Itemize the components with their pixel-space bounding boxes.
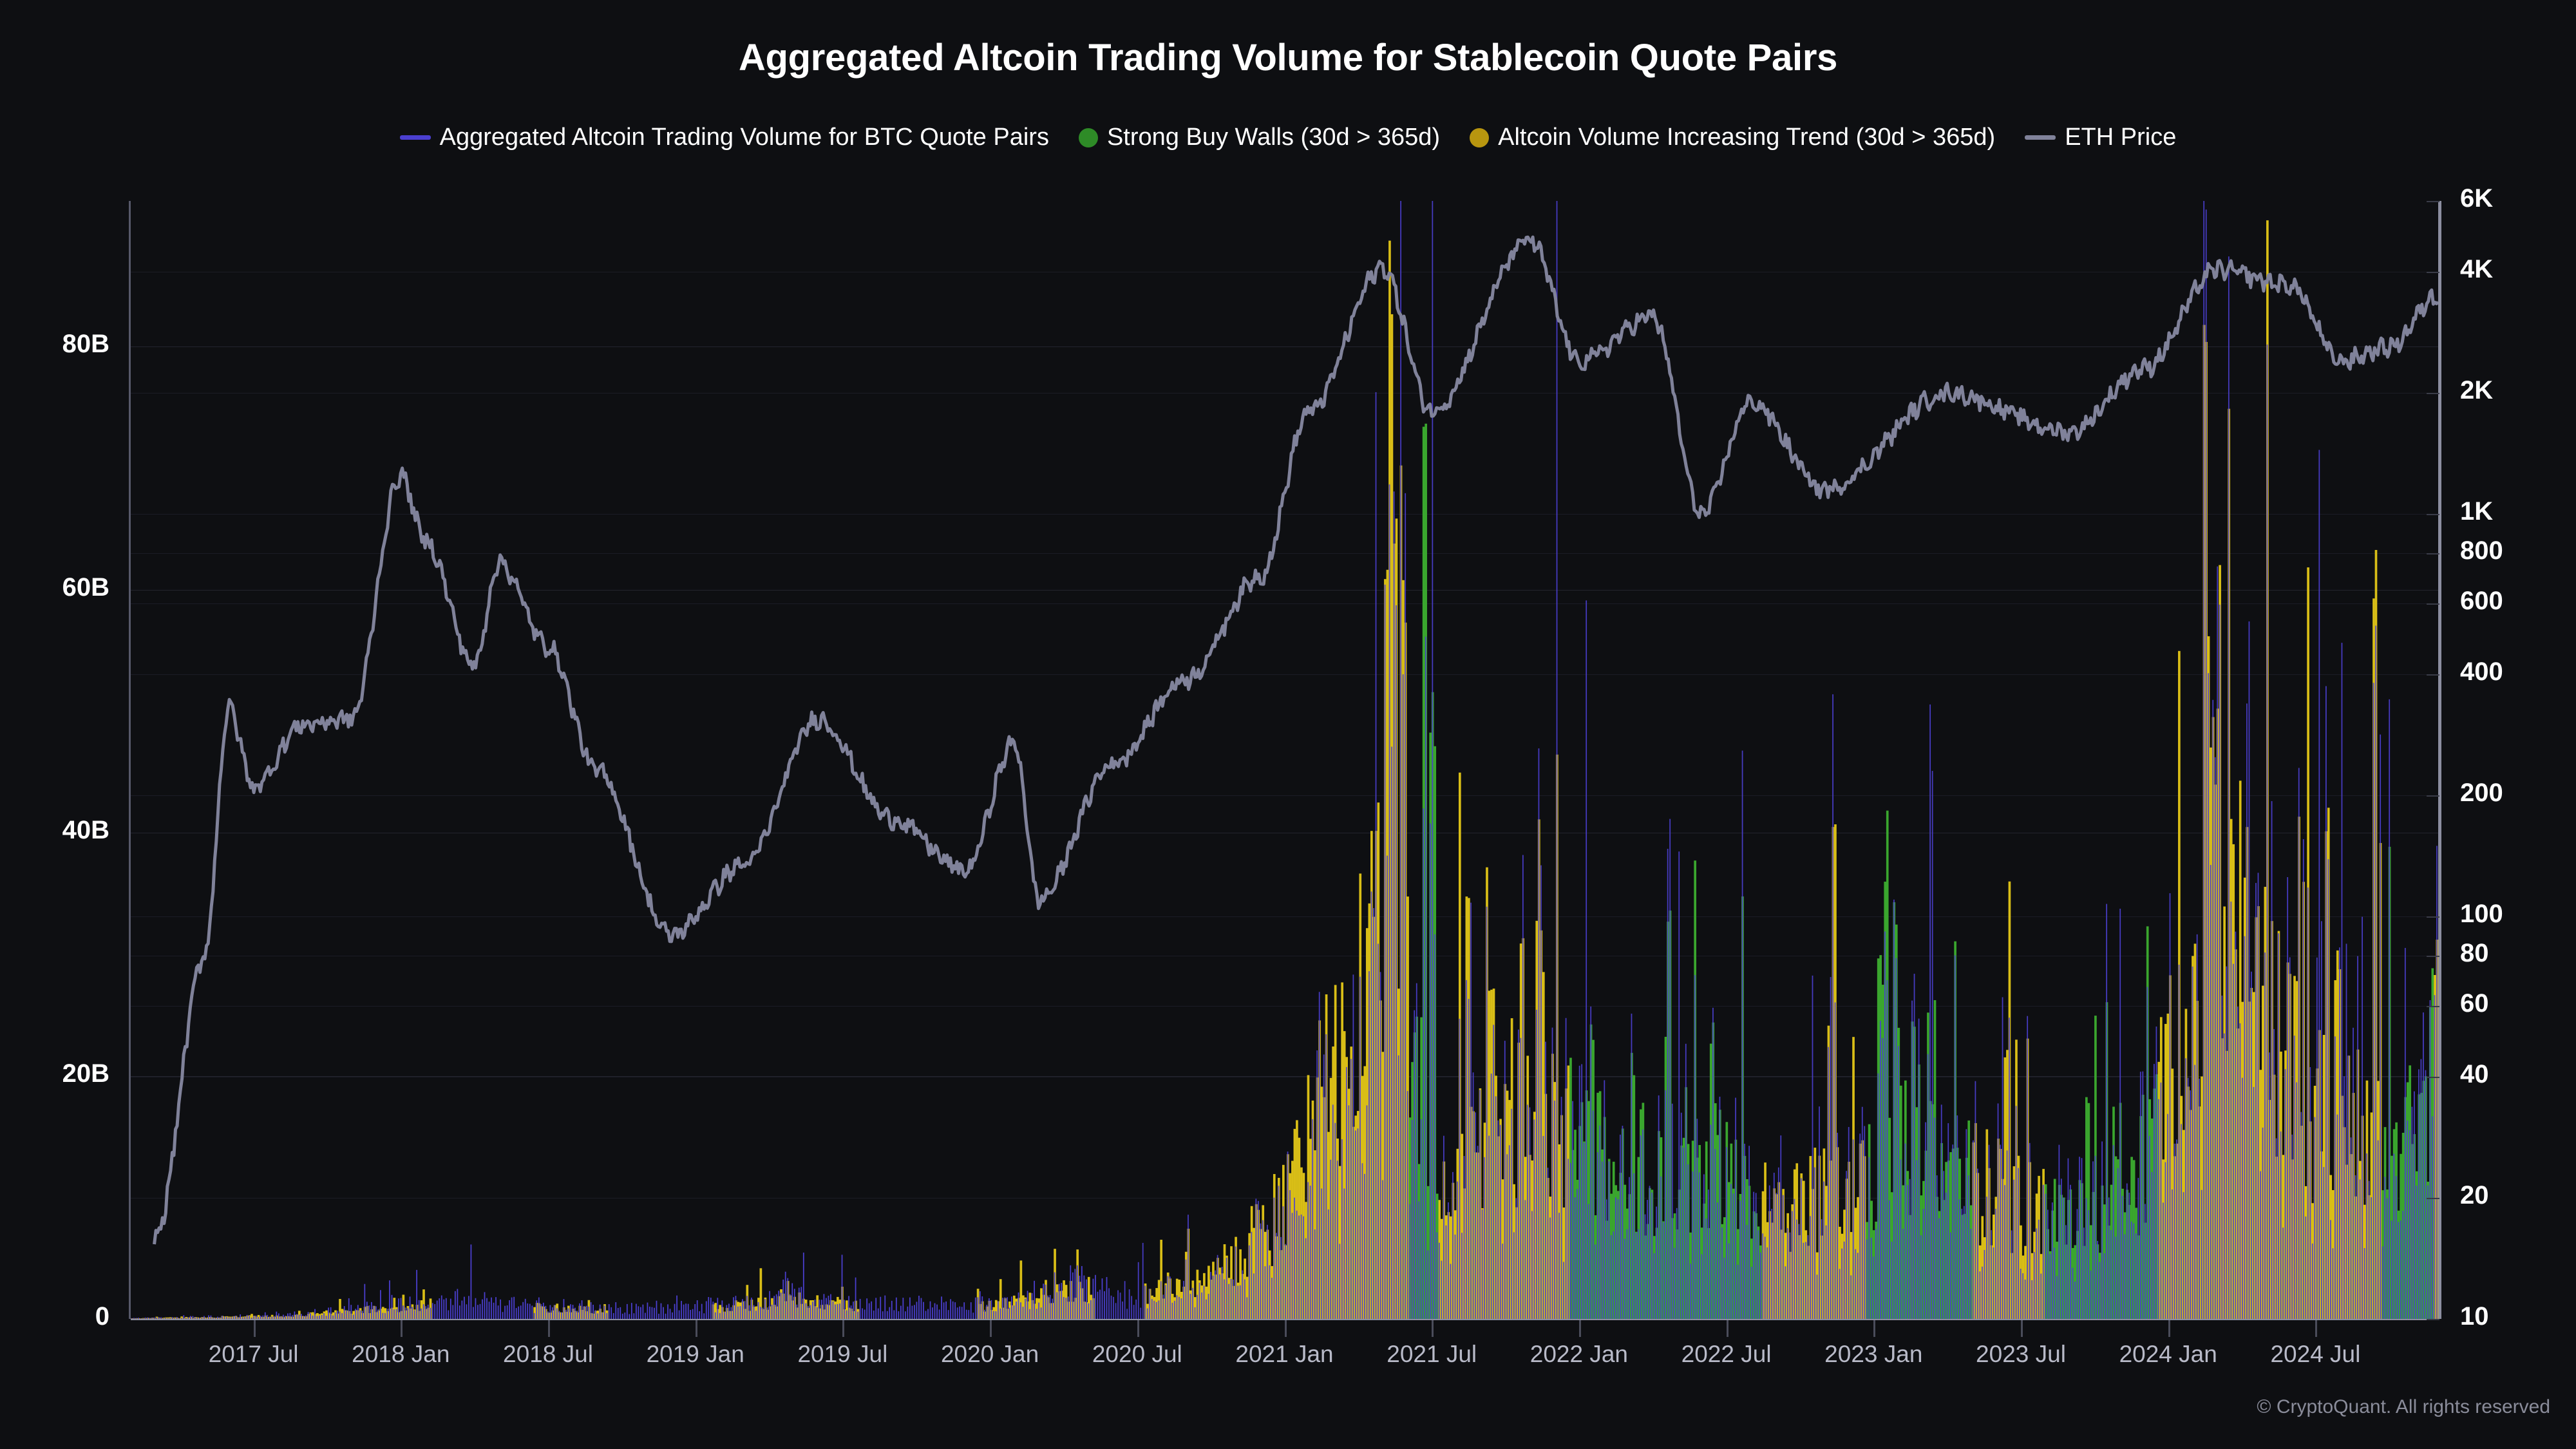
btc-volume-bar xyxy=(1405,493,1406,1319)
btc-volume-bar xyxy=(1524,1200,1526,1319)
btc-volume-bar xyxy=(398,1298,399,1319)
btc-volume-bar xyxy=(181,1318,182,1319)
btc-volume-bar xyxy=(2009,1018,2010,1319)
btc-volume-bar xyxy=(1812,976,1814,1319)
btc-volume-bar xyxy=(1896,958,1897,1319)
btc-volume-bar xyxy=(2011,1231,2012,1319)
btc-volume-bar xyxy=(1179,1297,1180,1319)
btc-volume-bar xyxy=(1029,1309,1030,1319)
y-axis-right-tick-label: 100 xyxy=(2460,900,2503,929)
btc-volume-bar xyxy=(869,1303,870,1319)
btc-volume-bar xyxy=(968,1310,969,1319)
btc-volume-bar xyxy=(1204,1286,1205,1319)
btc-volume-bar xyxy=(1690,1264,1691,1319)
btc-volume-bar xyxy=(1715,1149,1716,1319)
btc-volume-bar xyxy=(2351,1137,2352,1319)
btc-volume-bar xyxy=(1240,1285,1241,1319)
btc-volume-bar xyxy=(452,1305,453,1319)
btc-volume-bar xyxy=(1253,1273,1255,1319)
btc-volume-bar xyxy=(2423,1012,2424,1319)
btc-volume-bar xyxy=(1835,1003,1836,1319)
btc-volume-bar xyxy=(658,1314,659,1319)
btc-volume-bar xyxy=(1850,1275,1851,1319)
btc-volume-bar xyxy=(226,1317,227,1319)
btc-volume-bar xyxy=(882,1311,884,1319)
btc-volume-bar xyxy=(1400,201,1401,1319)
btc-volume-bar xyxy=(647,1303,649,1319)
btc-volume-bar xyxy=(1192,1288,1193,1319)
y-axis-left-tick-label: 20B xyxy=(13,1059,109,1088)
btc-volume-bar xyxy=(2249,621,2250,1319)
btc-volume-bar xyxy=(2224,1034,2225,1319)
btc-volume-bar xyxy=(1771,1209,1772,1319)
btc-volume-bar xyxy=(1468,999,1470,1319)
btc-volume-bar xyxy=(574,1308,576,1319)
btc-volume-bar xyxy=(1792,1211,1793,1319)
btc-volume-bar xyxy=(624,1312,625,1319)
btc-volume-bar xyxy=(484,1292,486,1319)
btc-volume-bar xyxy=(392,1295,393,1319)
btc-volume-bar xyxy=(2172,1189,2173,1319)
btc-volume-bar xyxy=(998,1302,999,1319)
btc-volume-bar xyxy=(781,1293,782,1319)
btc-volume-bar xyxy=(194,1317,196,1319)
btc-volume-bar xyxy=(1961,1209,1962,1319)
btc-volume-bar xyxy=(513,1297,515,1319)
btc-volume-bar xyxy=(1796,1220,1797,1319)
btc-volume-bar xyxy=(1278,1186,1280,1319)
btc-volume-bar xyxy=(1929,705,1931,1319)
btc-volume-bar xyxy=(2371,1197,2372,1319)
btc-volume-bar xyxy=(2212,700,2213,1319)
btc-volume-bar xyxy=(1167,1276,1168,1320)
btc-volume-bar xyxy=(2056,1276,2058,1319)
btc-volume-bar xyxy=(1016,1302,1017,1319)
btc-volume-bar xyxy=(2079,1157,2080,1319)
x-axis-tick-mark xyxy=(1137,1320,1139,1337)
btc-volume-bar xyxy=(1367,1105,1368,1319)
btc-volume-bar xyxy=(2000,1144,2001,1319)
btc-volume-bar xyxy=(1599,1126,1600,1319)
btc-volume-bar xyxy=(1965,1129,1967,1319)
btc-volume-bar xyxy=(2045,1194,2046,1319)
y-axis-right-tick-label: 1K xyxy=(2460,497,2493,526)
btc-volume-bar xyxy=(2353,1028,2354,1319)
btc-volume-bar xyxy=(269,1317,270,1319)
btc-volume-bar xyxy=(2273,1029,2275,1319)
btc-volume-bar xyxy=(337,1311,338,1319)
copyright-notice: © CryptoQuant. All rights reserved xyxy=(2257,1396,2550,1418)
btc-volume-bar xyxy=(697,1300,698,1319)
btc-volume-bar xyxy=(1199,1283,1200,1319)
btc-volume-bar xyxy=(1283,1206,1284,1319)
btc-volume-bar xyxy=(1891,1242,1893,1319)
btc-volume-bar xyxy=(437,1301,438,1320)
btc-volume-bar xyxy=(2201,1190,2202,1319)
btc-volume-bar xyxy=(2271,801,2273,1319)
btc-volume-bar xyxy=(1068,1296,1069,1319)
btc-volume-bar xyxy=(1298,1215,1300,1319)
btc-volume-bar xyxy=(984,1310,985,1319)
btc-volume-bar xyxy=(2373,683,2374,1319)
btc-volume-bar xyxy=(1093,1279,1094,1319)
btc-volume-bar xyxy=(604,1305,605,1319)
btc-volume-bar xyxy=(136,1318,137,1319)
btc-volume-bar xyxy=(217,1317,218,1319)
y-axis-right-tick-mark xyxy=(2427,393,2439,394)
btc-volume-bar xyxy=(2208,673,2209,1319)
btc-volume-bar xyxy=(601,1312,603,1319)
btc-volume-bar xyxy=(1153,1301,1155,1319)
btc-volume-bar xyxy=(387,1309,388,1319)
btc-volume-bar xyxy=(1430,824,1431,1319)
legend-item-altcoin-increasing[interactable]: Altcoin Volume Increasing Trend (30d > 3… xyxy=(1470,124,1995,151)
btc-volume-bar xyxy=(1539,748,1540,1319)
btc-volume-bar xyxy=(1041,1307,1042,1319)
btc-volume-bar xyxy=(169,1318,171,1319)
btc-volume-bar xyxy=(2258,873,2259,1319)
x-axis-tick-label: 2024 Jan xyxy=(2119,1341,2217,1368)
btc-volume-bar xyxy=(1183,1281,1184,1319)
btc-volume-bar xyxy=(2242,1078,2243,1319)
btc-volume-bar xyxy=(1769,1186,1770,1319)
btc-volume-bar xyxy=(380,1290,381,1319)
btc-volume-bar xyxy=(240,1314,241,1319)
btc-volume-bar xyxy=(1323,1054,1325,1319)
btc-volume-bar xyxy=(1477,1146,1479,1319)
btc-volume-bar xyxy=(993,1311,994,1319)
btc-volume-bar xyxy=(1373,908,1374,1319)
btc-volume-bar xyxy=(1873,1256,1874,1319)
btc-volume-bar xyxy=(1989,1145,1990,1319)
btc-volume-bar xyxy=(1871,1238,1872,1319)
legend-item-eth-price[interactable]: ETH Price xyxy=(2025,124,2176,151)
btc-volume-bar xyxy=(941,1296,942,1319)
btc-volume-bar xyxy=(2165,1162,2166,1319)
btc-volume-bar xyxy=(1952,1144,1953,1319)
btc-volume-bar xyxy=(1950,1233,1951,1319)
btc-volume-bar xyxy=(2400,1220,2401,1319)
btc-volume-bar xyxy=(1642,1130,1643,1319)
btc-volume-bar xyxy=(346,1310,347,1319)
btc-volume-bar xyxy=(712,1302,714,1319)
btc-volume-bar xyxy=(2036,1228,2037,1319)
y-axis-right-tick-label: 40 xyxy=(2460,1060,2489,1089)
btc-volume-bar xyxy=(434,1304,435,1319)
x-axis-tick-label: 2022 Jul xyxy=(1681,1341,1772,1368)
btc-volume-bar xyxy=(812,1302,813,1319)
x-axis-tick-label: 2021 Jul xyxy=(1387,1341,1477,1368)
btc-volume-bar xyxy=(1846,1171,1847,1319)
legend-item-strong-buy-walls[interactable]: Strong Buy Walls (30d > 365d) xyxy=(1079,124,1440,151)
btc-volume-bar xyxy=(2136,1233,2137,1319)
btc-volume-bar xyxy=(636,1304,637,1319)
btc-volume-bar xyxy=(1527,1104,1528,1319)
btc-volume-bar xyxy=(1412,1120,1413,1319)
y-axis-right-tick-mark xyxy=(2427,553,2439,554)
btc-volume-bar xyxy=(2020,1269,2022,1319)
btc-volume-bar xyxy=(1020,1302,1021,1319)
btc-volume-bar xyxy=(726,1305,727,1319)
btc-volume-bar xyxy=(1174,1301,1175,1319)
y-axis-right-tick-label: 400 xyxy=(2460,658,2503,687)
btc-volume-bar xyxy=(977,1297,978,1319)
btc-volume-bar xyxy=(2145,1204,2146,1319)
btc-volume-bar xyxy=(1868,1157,1870,1319)
btc-volume-bar xyxy=(1588,1204,1589,1319)
btc-volume-bar xyxy=(1314,1229,1316,1319)
btc-volume-bar xyxy=(676,1296,677,1319)
btc-volume-bar xyxy=(1631,1014,1633,1319)
btc-volume-bar xyxy=(957,1307,958,1319)
btc-volume-bar xyxy=(1459,1019,1461,1319)
btc-volume-bar xyxy=(493,1303,495,1319)
btc-volume-bar xyxy=(2355,1175,2356,1319)
btc-volume-bar xyxy=(961,1307,963,1319)
btc-volume-bar xyxy=(2305,1217,2306,1319)
btc-volume-bar xyxy=(839,1303,840,1319)
btc-volume-bar xyxy=(511,1298,513,1319)
btc-volume-bar xyxy=(1681,1113,1682,1319)
btc-volume-bar xyxy=(1757,1230,1759,1319)
btc-volume-bar xyxy=(1687,1164,1689,1319)
btc-volume-bar xyxy=(1421,1119,1422,1319)
btc-volume-bar xyxy=(864,1310,866,1319)
btc-volume-bar xyxy=(1201,1293,1202,1319)
btc-volume-bar xyxy=(142,1318,144,1319)
btc-volume-bar xyxy=(1378,943,1379,1319)
btc-volume-bar xyxy=(2409,1130,2410,1319)
btc-volume-bar xyxy=(1197,1295,1198,1319)
btc-volume-bar xyxy=(1359,977,1361,1319)
btc-volume-bar xyxy=(1262,1220,1264,1319)
btc-volume-bar xyxy=(206,1318,207,1319)
btc-volume-bar xyxy=(2090,1271,2092,1319)
btc-volume-bar xyxy=(1081,1266,1083,1319)
btc-volume-bar xyxy=(1717,1202,1718,1319)
btc-volume-bar xyxy=(613,1313,614,1319)
btc-volume-bar xyxy=(1439,1243,1440,1319)
y-axis-right-tick-label: 200 xyxy=(2460,779,2503,808)
btc-volume-bar xyxy=(1330,1160,1331,1319)
y-axis-right-tick-label: 10 xyxy=(2460,1302,2489,1331)
btc-volume-bar xyxy=(362,1311,363,1319)
btc-volume-bar xyxy=(290,1313,291,1319)
btc-volume-bar xyxy=(1325,1034,1327,1319)
btc-volume-bar xyxy=(1493,1025,1494,1319)
btc-volume-bar xyxy=(1097,1292,1099,1319)
btc-volume-bar xyxy=(853,1302,854,1319)
btc-volume-bar xyxy=(2384,1177,2385,1319)
btc-volume-bar xyxy=(914,1305,915,1319)
btc-volume-bar xyxy=(1882,1038,1884,1319)
btc-volume-bar xyxy=(187,1317,189,1319)
btc-volume-bar xyxy=(649,1307,650,1319)
btc-volume-bar xyxy=(423,1304,424,1319)
btc-volume-bar xyxy=(692,1309,694,1319)
btc-volume-bar xyxy=(538,1298,540,1319)
btc-volume-bar xyxy=(256,1316,257,1319)
btc-volume-bar xyxy=(573,1305,574,1319)
btc-volume-bar xyxy=(464,1297,465,1319)
x-axis-tick-label: 2018 Jan xyxy=(352,1341,450,1368)
btc-volume-bar xyxy=(482,1300,483,1319)
btc-volume-bar xyxy=(2002,997,2003,1319)
x-axis-tick-label: 2020 Jan xyxy=(941,1341,1039,1368)
btc-volume-bar xyxy=(1837,1133,1838,1319)
page-title: Aggregated Altcoin Trading Volume for St… xyxy=(0,36,2576,79)
btc-volume-bar xyxy=(2366,1153,2367,1319)
btc-volume-bar xyxy=(321,1315,323,1319)
btc-volume-bar xyxy=(1667,849,1669,1319)
btc-volume-bar xyxy=(1355,1130,1356,1319)
btc-volume-bar xyxy=(1751,1267,1752,1319)
x-axis-tick-label: 2020 Jul xyxy=(1092,1341,1182,1368)
btc-volume-bar xyxy=(1522,855,1524,1319)
btc-volume-bar xyxy=(862,1308,863,1319)
btc-volume-bar xyxy=(1595,1245,1596,1319)
btc-volume-bar xyxy=(1738,1265,1739,1319)
btc-volume-bar xyxy=(378,1309,379,1319)
btc-volume-bar xyxy=(948,1310,949,1319)
btc-volume-bar xyxy=(1857,1253,1859,1319)
btc-volume-bar xyxy=(950,1299,951,1319)
btc-volume-bar xyxy=(2244,936,2246,1319)
btc-volume-bar xyxy=(1321,1189,1322,1319)
btc-volume-bar xyxy=(1310,1186,1311,1319)
btc-volume-bar xyxy=(1602,1162,1603,1319)
btc-volume-bar xyxy=(2434,995,2436,1319)
legend-item-label: Strong Buy Walls (30d > 365d) xyxy=(1107,124,1440,151)
btc-volume-bar xyxy=(1074,1269,1075,1319)
btc-volume-bar xyxy=(1683,1148,1684,1319)
btc-volume-bar xyxy=(1805,1242,1806,1319)
btc-volume-bar xyxy=(1506,1154,1508,1319)
btc-volume-bar xyxy=(1808,1235,1809,1319)
btc-volume-bar xyxy=(197,1318,198,1319)
btc-volume-bar xyxy=(244,1317,245,1319)
btc-volume-bar xyxy=(283,1314,284,1319)
btc-volume-bar xyxy=(1072,1273,1074,1319)
btc-volume-bar xyxy=(1219,1274,1220,1319)
btc-volume-bar xyxy=(1898,1046,1899,1319)
btc-volume-bar xyxy=(565,1310,567,1319)
btc-volume-bar xyxy=(600,1305,601,1319)
btc-volume-bar xyxy=(1828,1047,1829,1319)
btc-volume-bar xyxy=(2228,256,2230,1319)
btc-volume-bar xyxy=(1115,1303,1117,1319)
btc-volume-bar xyxy=(1403,674,1404,1319)
btc-volume-bar xyxy=(2137,1178,2139,1319)
btc-volume-bar xyxy=(921,1298,922,1319)
btc-volume-bar xyxy=(1432,201,1433,1319)
btc-volume-bar xyxy=(292,1315,293,1319)
btc-volume-bar xyxy=(2221,996,2222,1319)
btc-volume-bar xyxy=(582,1300,583,1319)
btc-volume-bar xyxy=(1656,1207,1657,1319)
btc-volume-bar xyxy=(1265,1266,1266,1319)
btc-volume-bar xyxy=(2029,1143,2031,1319)
btc-volume-bar xyxy=(1665,1090,1666,1319)
btc-volume-bar xyxy=(1608,1161,1609,1319)
btc-volume-bar xyxy=(1398,1056,1399,1319)
btc-volume-bar xyxy=(1907,1185,1908,1319)
btc-volume-bar xyxy=(353,1314,354,1319)
btc-volume-bar xyxy=(873,1311,875,1319)
btc-volume-bar xyxy=(2405,948,2406,1319)
btc-volume-bar xyxy=(131,1318,133,1319)
btc-volume-bar xyxy=(1839,1269,1841,1319)
btc-volume-bar xyxy=(1853,1139,1854,1319)
btc-volume-bar xyxy=(579,1303,580,1319)
btc-volume-bar xyxy=(824,1294,825,1319)
btc-volume-bar xyxy=(2342,643,2343,1319)
btc-volume-bar xyxy=(1436,1233,1437,1319)
btc-volume-bar xyxy=(1785,1266,1786,1319)
btc-volume-bar xyxy=(1120,1293,1121,1319)
btc-volume-bar xyxy=(2260,1171,2261,1319)
btc-volume-bar xyxy=(344,1306,345,1319)
legend-item-btc-volume[interactable]: Aggregated Altcoin Trading Volume for BT… xyxy=(400,124,1049,151)
btc-volume-bar xyxy=(769,1291,770,1319)
btc-volume-bar xyxy=(1744,1144,1745,1319)
btc-volume-bar xyxy=(1346,1067,1347,1319)
btc-volume-bar xyxy=(202,1317,203,1319)
btc-volume-bar xyxy=(790,1294,791,1319)
btc-volume-bar xyxy=(357,1305,359,1319)
btc-volume-bar xyxy=(145,1318,146,1319)
btc-volume-bar xyxy=(1425,637,1426,1319)
btc-volume-bar xyxy=(645,1313,646,1319)
btc-volume-bar xyxy=(1696,1119,1698,1319)
btc-volume-bar xyxy=(1332,1104,1334,1319)
btc-volume-bar xyxy=(2339,947,2340,1319)
btc-volume-bar xyxy=(154,1318,155,1319)
btc-volume-bar xyxy=(2072,1268,2074,1319)
btc-volume-bar xyxy=(1255,1198,1256,1319)
btc-volume-bar xyxy=(1557,201,1558,1319)
btc-volume-bar xyxy=(2294,1036,2295,1319)
btc-volume-bar xyxy=(1760,1253,1761,1319)
y-axis-right-tick-mark xyxy=(2427,1198,2439,1199)
btc-volume-bar xyxy=(2253,1087,2255,1319)
btc-volume-bar xyxy=(1267,1225,1268,1319)
btc-volume-bar xyxy=(735,1296,737,1319)
btc-volume-bar xyxy=(247,1315,248,1319)
btc-volume-bar xyxy=(592,1305,594,1319)
btc-volume-bar xyxy=(2333,1248,2334,1319)
btc-volume-bar xyxy=(1982,1267,1983,1319)
btc-volume-bar xyxy=(846,1311,848,1319)
btc-volume-bar xyxy=(190,1316,191,1320)
y-axis-right-tick-mark xyxy=(2427,1319,2439,1320)
btc-volume-bar xyxy=(577,1311,578,1319)
btc-volume-bar xyxy=(271,1316,272,1319)
btc-volume-bar xyxy=(480,1304,481,1319)
btc-volume-bar xyxy=(1054,1273,1056,1319)
btc-volume-bar xyxy=(1923,1209,1924,1319)
btc-volume-bar xyxy=(1753,1192,1754,1319)
y-axis-right-tick-label: 60 xyxy=(2460,989,2489,1018)
btc-volume-bar xyxy=(980,1291,981,1319)
btc-volume-bar xyxy=(317,1316,318,1319)
btc-volume-bar xyxy=(1258,1201,1259,1319)
btc-volume-bar xyxy=(857,1312,858,1319)
btc-volume-bar xyxy=(1090,1300,1092,1319)
btc-volume-bar xyxy=(2122,1196,2123,1319)
btc-volume-bar xyxy=(461,1301,462,1320)
btc-volume-bar xyxy=(160,1317,162,1319)
